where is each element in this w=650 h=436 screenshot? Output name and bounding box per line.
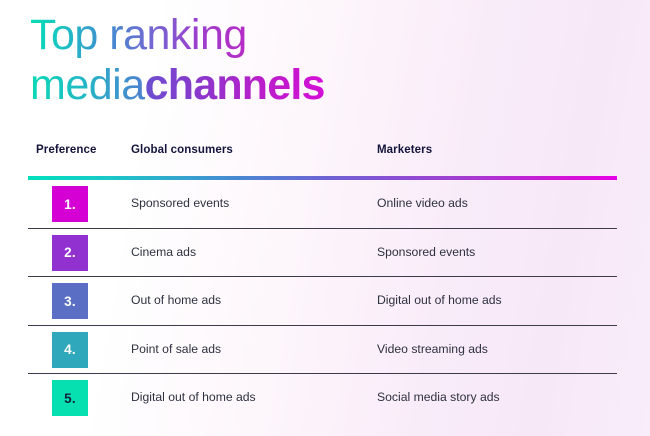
table-row: 1. Sponsored events Online video ads (28, 180, 617, 229)
cell-marketers: Video streaming ads (377, 326, 488, 374)
table-header-row: Preference Global consumers Marketers (28, 140, 617, 176)
table-row: 2. Cinema ads Sponsored events (28, 229, 617, 278)
infographic-page: Top ranking mediachannels Preference Glo… (0, 0, 650, 436)
ranking-table: Preference Global consumers Marketers 1.… (28, 140, 617, 422)
cell-marketers: Social media story ads (377, 374, 500, 422)
cell-global-consumers: Cinema ads (131, 229, 196, 277)
cell-marketers: Digital out of home ads (377, 277, 502, 325)
rank-badge: 5. (52, 380, 88, 416)
rank-badge: 1. (52, 186, 88, 222)
cell-marketers: Online video ads (377, 180, 468, 228)
title-line-2-bold-text: channels (145, 60, 325, 110)
column-header-marketers: Marketers (377, 144, 432, 156)
table-row: 3. Out of home ads Digital out of home a… (28, 277, 617, 326)
title-line-1-text: Top ranking (30, 10, 247, 60)
title-line-2-light-text: media (30, 60, 145, 110)
title-line-2: mediachannels (30, 60, 630, 110)
title-line-1: Top ranking (30, 10, 630, 60)
cell-global-consumers: Out of home ads (131, 277, 221, 325)
rank-badge: 2. (52, 235, 88, 271)
page-title: Top ranking mediachannels (30, 10, 630, 110)
cell-global-consumers: Point of sale ads (131, 326, 221, 374)
table-row: 5. Digital out of home ads Social media … (28, 374, 617, 422)
table-row: 4. Point of sale ads Video streaming ads (28, 326, 617, 375)
rank-badge: 4. (52, 332, 88, 368)
cell-marketers: Sponsored events (377, 229, 475, 277)
cell-global-consumers: Digital out of home ads (131, 374, 256, 422)
column-header-preference: Preference (36, 144, 96, 156)
column-header-global-consumers: Global consumers (131, 144, 233, 156)
rank-badge: 3. (52, 283, 88, 319)
cell-global-consumers: Sponsored events (131, 180, 229, 228)
